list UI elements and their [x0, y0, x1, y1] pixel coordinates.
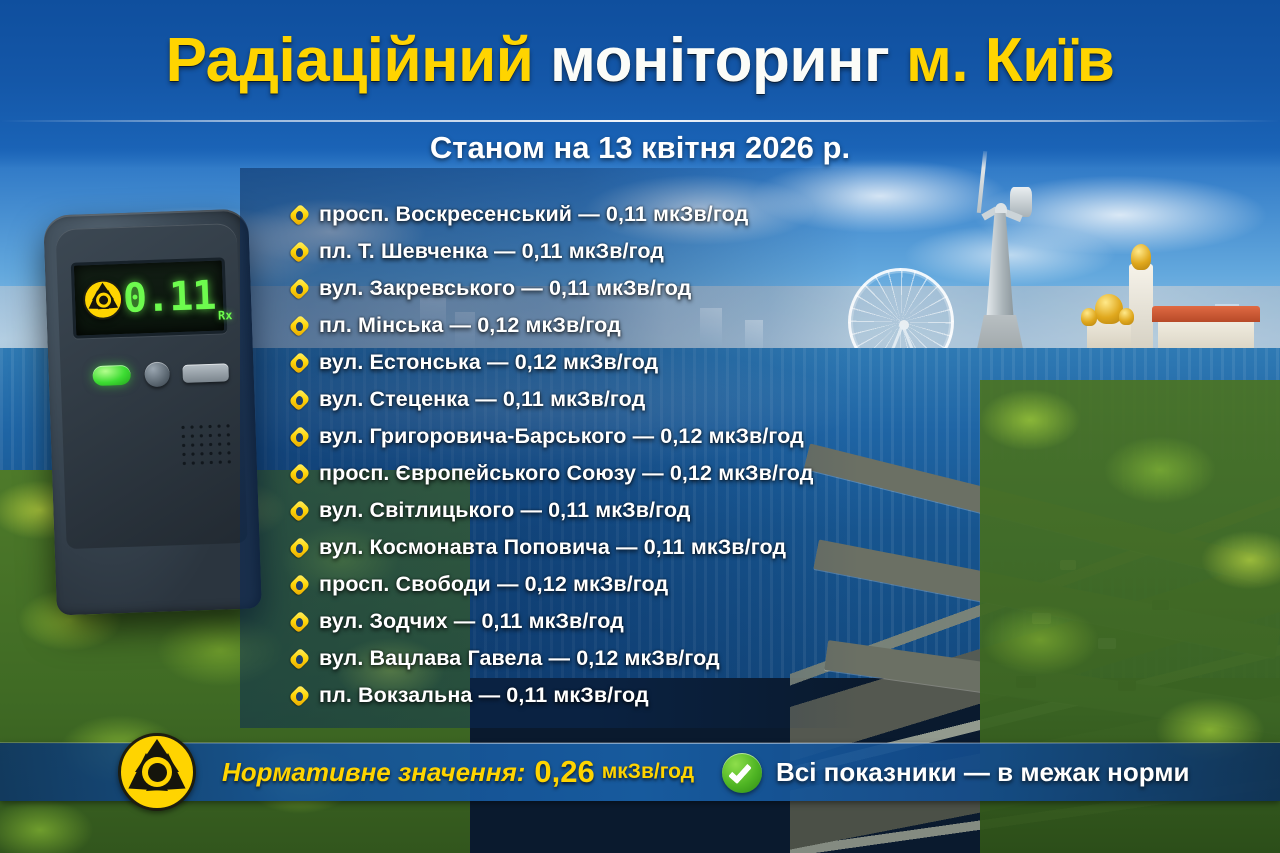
green-check-icon — [722, 753, 762, 793]
measurement-separator: — — [616, 535, 638, 559]
measurement-location: вул. Григоровича-Барського — [319, 424, 627, 448]
measurement-text: просп. Європейського Союзу — 0,12 мкЗв/г… — [319, 461, 813, 486]
measurement-separator: — — [578, 202, 600, 226]
measurement-text: вул. Космонавта Поповича — 0,11 мкЗв/год — [319, 535, 786, 560]
yellow-diamond-pin-icon — [290, 573, 309, 597]
measurement-value: 0,11 — [481, 609, 522, 633]
measurement-row: вул. Естонська — 0,12 мкЗв/год — [290, 344, 890, 381]
monument-body — [986, 213, 1014, 323]
measurement-text: пл. Вокзальна — 0,11 мкЗв/год — [319, 683, 649, 708]
measurement-row: вул. Григоровича-Барського — 0,12 мкЗв/г… — [290, 418, 890, 455]
normative-value: 0,26 — [534, 754, 594, 790]
measurement-unit: мкЗв/год — [718, 461, 813, 485]
yellow-diamond-pin-icon — [290, 314, 309, 338]
header-divider-line — [0, 120, 1280, 122]
measurement-unit: мкЗв/год — [526, 313, 621, 337]
lavra-golden-dome — [1119, 308, 1134, 325]
measurement-unit: мкЗв/год — [595, 498, 690, 522]
normative-label: Нормативне значення: — [222, 757, 525, 788]
lavra-golden-dome — [1081, 308, 1097, 326]
yellow-diamond-pin-icon — [290, 277, 309, 301]
measurement-row: просп. Свободи — 0,12 мкЗв/год — [290, 566, 890, 603]
measurement-separator: — — [642, 461, 664, 485]
measurement-text: просп. Воскресенський — 0,11 мкЗв/год — [319, 202, 748, 227]
check-mark-glyph — [728, 760, 752, 784]
measurement-text: вул. Григоровича-Барського — 0,12 мкЗв/г… — [319, 424, 804, 449]
measurement-text: пл. Мінська — 0,12 мкЗв/год — [319, 313, 621, 338]
yellow-diamond-pin-icon — [290, 425, 309, 449]
measurement-unit: мкЗв/год — [573, 572, 668, 596]
measurement-text: просп. Свободи — 0,12 мкЗв/год — [319, 572, 668, 597]
measurement-value: 0,12 — [477, 313, 519, 337]
measurement-separator: — — [521, 276, 543, 300]
measurement-separator: — — [487, 350, 509, 374]
yellow-diamond-pin-icon — [290, 499, 309, 523]
measurement-location: вул. Світлицького — [319, 498, 514, 522]
yellow-diamond-pin-icon — [290, 351, 309, 375]
measurement-row: пл. Мінська — 0,12 мкЗв/год — [290, 307, 890, 344]
measurement-unit: мкЗв/год — [709, 424, 804, 448]
measurement-location: пл. Вокзальна — [319, 683, 473, 707]
yellow-diamond-pin-icon — [290, 684, 309, 708]
measurement-text: пл. Т. Шевченка — 0,11 мкЗв/год — [319, 239, 664, 264]
measurement-location: пл. Мінська — [319, 313, 443, 337]
status-message: Всі показники — в межак норми — [776, 743, 1189, 801]
measurement-row: вул. Світлицького — 0,11 мкЗв/год — [290, 492, 890, 529]
measurement-text: вул. Закревського — 0,11 мкЗв/год — [319, 276, 691, 301]
measurement-unit: мкЗв/год — [625, 646, 720, 670]
measurement-row: просп. Європейського Союзу — 0,12 мкЗв/г… — [290, 455, 890, 492]
measurement-text: вул. Вацлава Гавела — 0,12 мкЗв/год — [319, 646, 720, 671]
measurement-value: 0,11 — [644, 535, 685, 559]
measurement-location: просп. Свободи — [319, 572, 491, 596]
measurement-text: вул. Світлицького — 0,11 мкЗв/год — [319, 498, 691, 523]
measurement-unit: мкЗв/год — [596, 276, 691, 300]
measurement-row: вул. Вацлава Гавела — 0,12 мкЗв/год — [290, 640, 890, 677]
yellow-diamond-pin-icon — [290, 610, 309, 634]
speaker-grille — [178, 421, 232, 467]
measurement-unit: мкЗв/год — [563, 350, 658, 374]
measurement-separator: — — [497, 572, 519, 596]
measurement-location: вул. Вацлава Гавела — [319, 646, 542, 670]
measurement-row: пл. Вокзальна — 0,11 мкЗв/год — [290, 677, 890, 714]
measurement-separator: — — [549, 646, 571, 670]
infographic-poster: Радіаційний моніторинг м. Київ Станом на… — [0, 0, 1280, 853]
measurement-location: вул. Космонавта Поповича — [319, 535, 610, 559]
measurement-value: 0,11 — [506, 683, 547, 707]
measurement-unit: мкЗв/год — [529, 609, 624, 633]
title-segment-1: Радіаційний — [166, 26, 550, 95]
trefoil-center-dot — [148, 763, 167, 782]
measurement-row: пл. Т. Шевченка — 0,11 мкЗв/год — [290, 233, 890, 270]
measurement-value: 0,12 — [660, 424, 702, 448]
measurement-separator: — — [475, 387, 497, 411]
measurement-location: вул. Стеценка — [319, 387, 469, 411]
measurement-unit: мкЗв/год — [569, 239, 664, 263]
yellow-diamond-pin-icon — [290, 203, 309, 227]
measurement-location: просп. Воскресенський — [319, 202, 572, 226]
measurement-text: вул. Стеценка — 0,11 мкЗв/год — [319, 387, 645, 412]
measurement-value: 0,11 — [549, 276, 590, 300]
measurement-unit: мкЗв/год — [653, 202, 748, 226]
page-subtitle: Станом на 13 квітня 2026 р. — [0, 130, 1280, 166]
measurement-separator: — — [494, 239, 516, 263]
riverside-roof — [1152, 306, 1260, 322]
measurement-value: 0,11 — [522, 239, 563, 263]
measurement-row: вул. Космонавта Поповича — 0,11 мкЗв/год — [290, 529, 890, 566]
measurement-row: вул. Закревського — 0,11 мкЗв/год — [290, 270, 890, 307]
measurement-list: просп. Воскресенський — 0,11 мкЗв/годпл.… — [290, 196, 890, 714]
measurement-location: вул. Зодчих — [319, 609, 448, 633]
measurement-value: 0,12 — [670, 461, 712, 485]
normative-unit: мкЗв/год — [602, 760, 694, 784]
measurement-value: 0,11 — [606, 202, 647, 226]
measurement-row: просп. Воскресенський — 0,11 мкЗв/год — [290, 196, 890, 233]
measurement-location: просп. Європейського Союзу — [319, 461, 636, 485]
yellow-diamond-pin-icon — [290, 536, 309, 560]
yellow-diamond-pin-icon — [290, 462, 309, 486]
dosimeter-device: 0.11 Rx — [43, 209, 262, 616]
radiation-trefoil-icon — [82, 279, 123, 320]
dosimeter-lcd-screen: 0.11 Rx — [71, 257, 228, 338]
yellow-diamond-pin-icon — [290, 647, 309, 671]
measurement-separator: — — [520, 498, 542, 522]
measurement-value: 0,12 — [515, 350, 557, 374]
title-segment-2: моніторинг — [550, 26, 889, 95]
measurement-location: вул. Естонська — [319, 350, 481, 374]
measurement-separator: — — [633, 424, 655, 448]
measurement-text: вул. Зодчих — 0,11 мкЗв/год — [319, 609, 624, 634]
dosimeter-reading-value: 0.11 — [122, 276, 216, 319]
measurement-unit: мкЗв/год — [691, 535, 786, 559]
measure-button[interactable] — [182, 363, 229, 383]
measurement-value: 0,12 — [576, 646, 618, 670]
normative-value-block: Нормативне значення: 0,26 мкЗв/год — [222, 743, 694, 801]
measurement-location: вул. Закревського — [319, 276, 515, 300]
measurement-value: 0,11 — [548, 498, 589, 522]
measurement-unit: мкЗв/год — [553, 683, 648, 707]
measurement-separator: — — [454, 609, 476, 633]
measurement-separator: — — [479, 683, 501, 707]
dosimeter-reading-unit: Rx — [218, 308, 233, 322]
yellow-diamond-pin-icon — [290, 388, 309, 412]
title-segment-3: м. Київ — [889, 26, 1114, 95]
measurement-value: 0,12 — [525, 572, 567, 596]
measurement-location: пл. Т. Шевченка — [319, 239, 488, 263]
radiation-trefoil-icon — [118, 733, 196, 811]
lavra-golden-dome — [1131, 244, 1151, 270]
measurement-row: вул. Зодчих — 0,11 мкЗв/год — [290, 603, 890, 640]
measurement-text: вул. Естонська — 0,12 мкЗв/год — [319, 350, 658, 375]
page-title: Радіаційний моніторинг м. Київ — [0, 30, 1280, 92]
measurement-value: 0,11 — [503, 387, 544, 411]
power-led-indicator — [92, 365, 131, 386]
measurement-row: вул. Стеценка — 0,11 мкЗв/год — [290, 381, 890, 418]
yellow-diamond-pin-icon — [290, 240, 309, 264]
measurement-separator: — — [450, 313, 472, 337]
measurement-unit: мкЗв/год — [550, 387, 645, 411]
